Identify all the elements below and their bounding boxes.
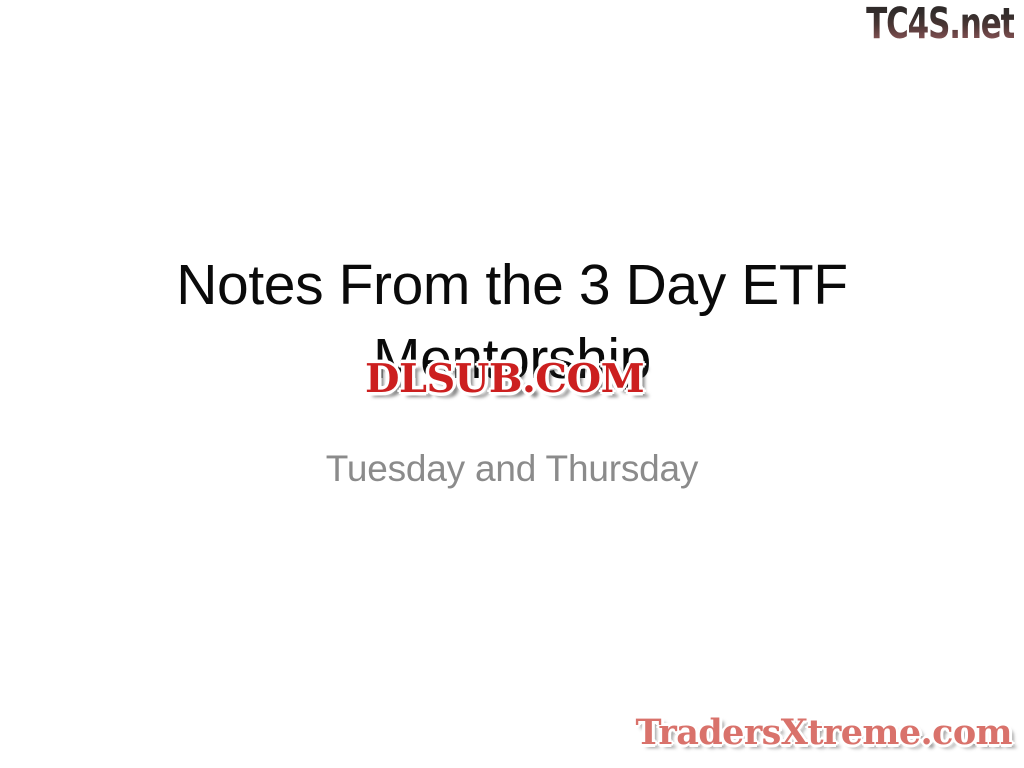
slide-title-line-1: Notes From the 3 Day ETF xyxy=(0,248,1024,322)
presentation-slide: Notes From the 3 Day ETF Mentorship Tues… xyxy=(0,0,1024,768)
watermark-dlsub-com: DLSUB.COM xyxy=(365,358,644,400)
watermark-tradersxtreme-com: TradersXtreme.com xyxy=(635,712,1012,754)
slide-subtitle: Tuesday and Thursday xyxy=(0,446,1024,492)
watermark-tc4s-net: TC4S.net xyxy=(866,0,1014,48)
